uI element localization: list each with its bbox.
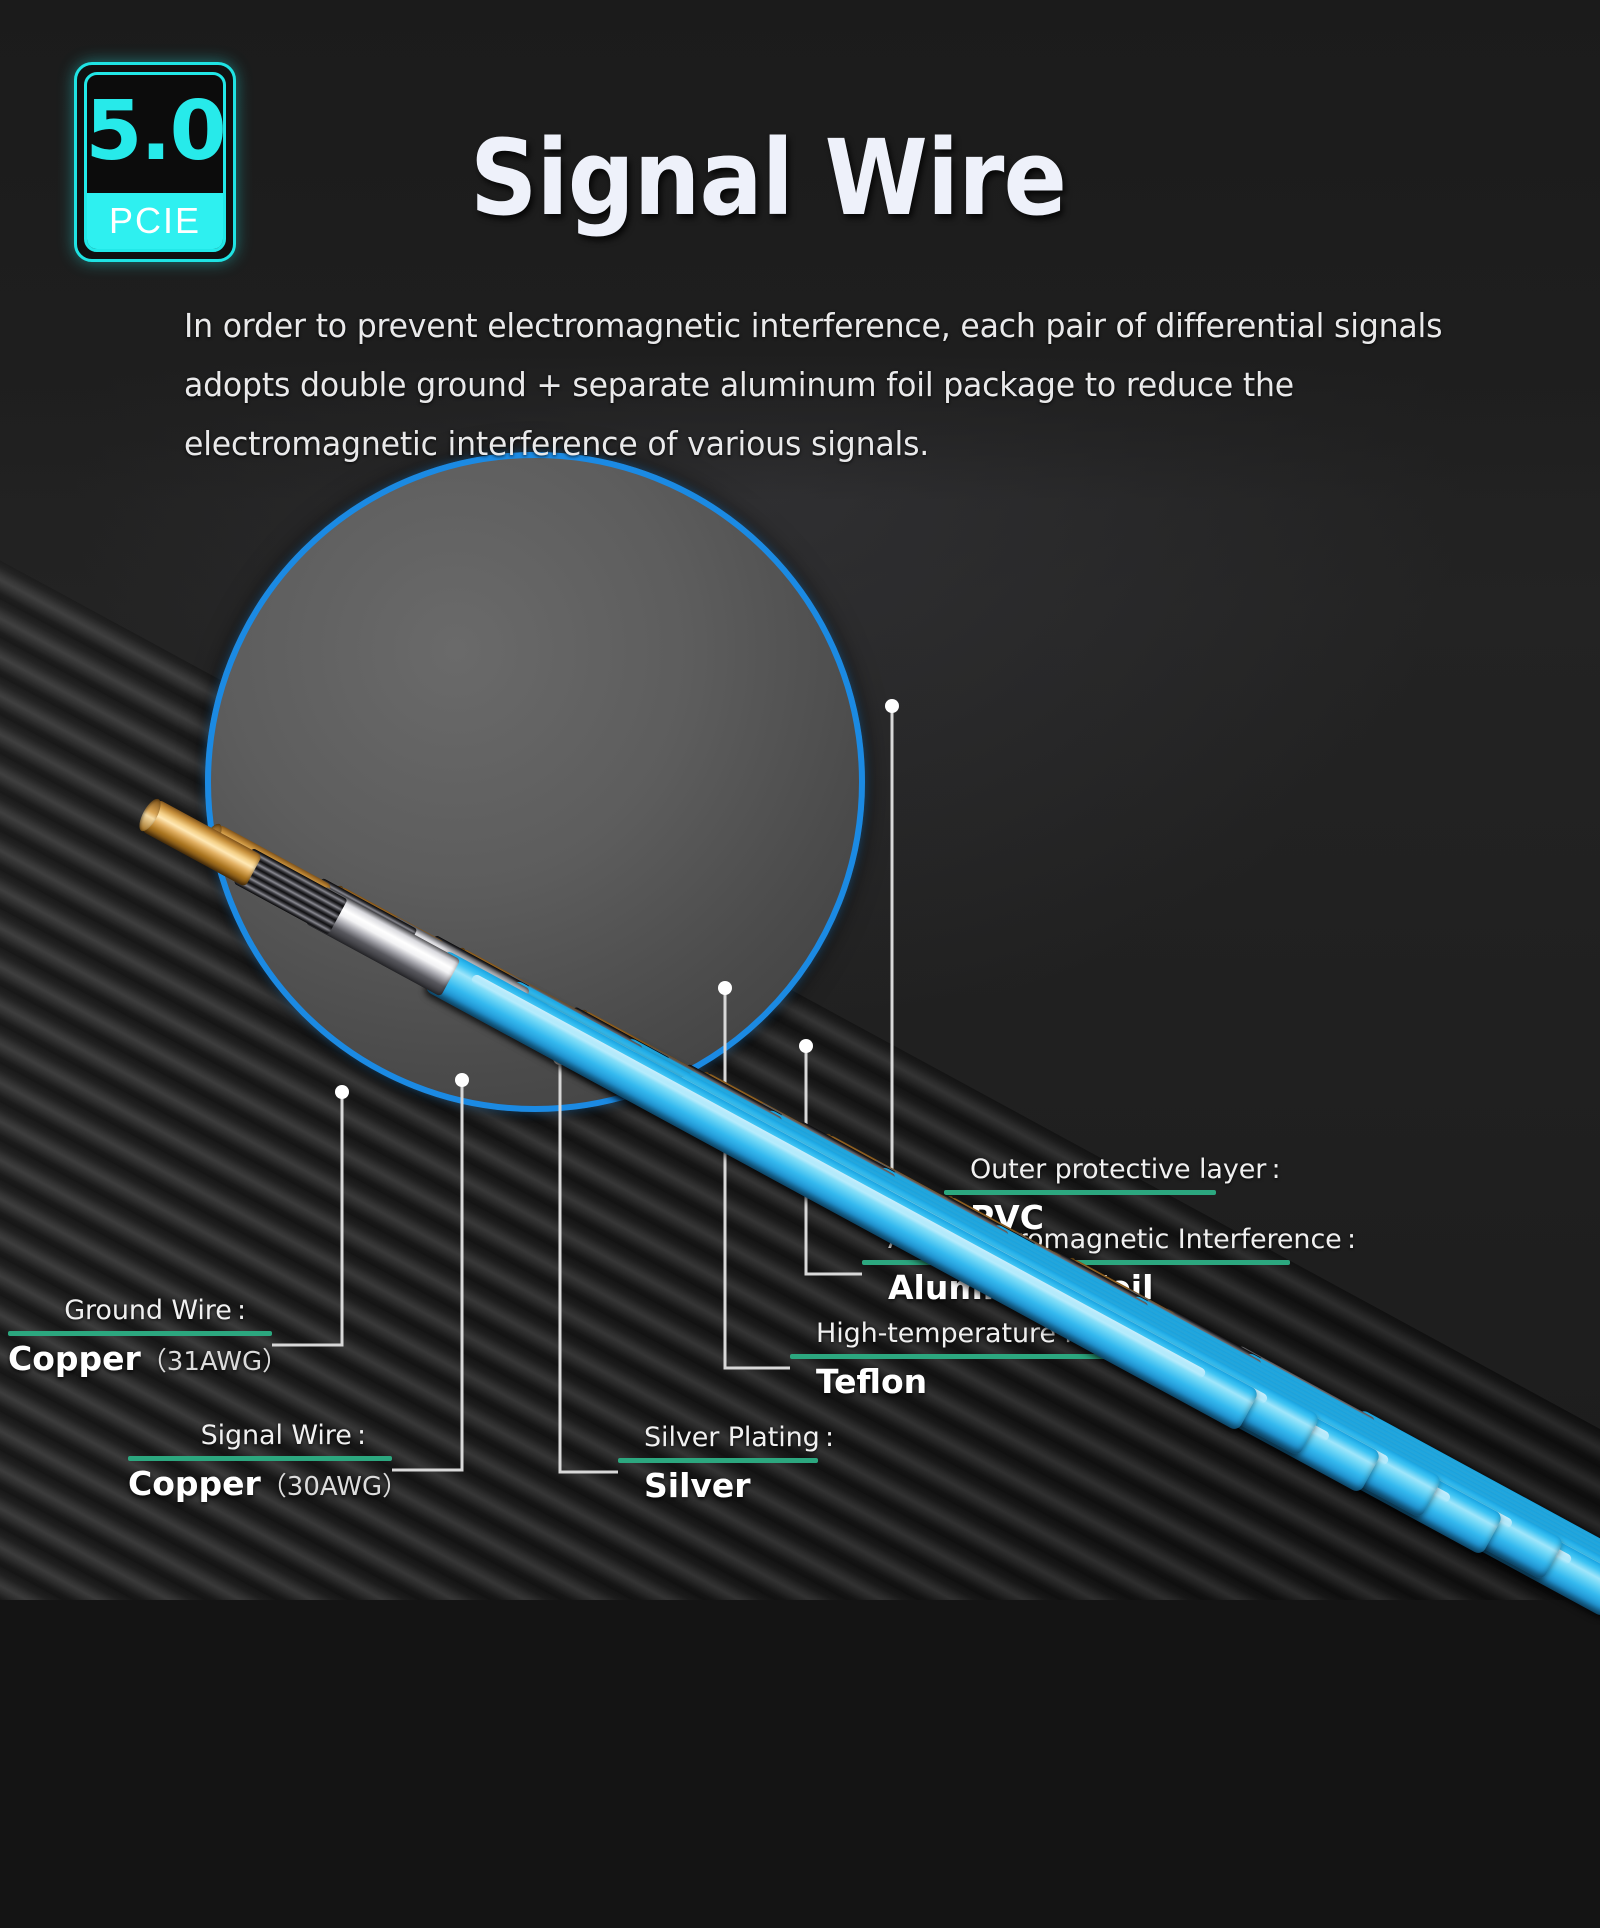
description-paragraph: In order to prevent electromagnetic inte… xyxy=(184,296,1521,473)
callout-value-text: Silver xyxy=(644,1466,751,1505)
pcie-version-number: 5.0 xyxy=(87,75,223,193)
callout-rule xyxy=(790,1354,1168,1359)
callout-caption: Ground Wire : xyxy=(8,1295,272,1326)
callout-value: PVC xyxy=(944,1198,1216,1237)
callout-value-note: （30AWG） xyxy=(261,1472,408,1502)
magnifier-lens xyxy=(205,452,865,1112)
callout-rule xyxy=(128,1456,392,1461)
callout-caption: Signal Wire : xyxy=(128,1420,392,1451)
callout-signal-wire: Signal Wire : Copper（30AWG） xyxy=(128,1420,392,1503)
callout-caption: Outer protective layer : xyxy=(944,1154,1216,1185)
pcie-version-badge: 5.0 PCIE xyxy=(74,62,236,262)
callout-value-text: PVC xyxy=(970,1198,1044,1237)
callout-value-text: Copper xyxy=(128,1464,261,1503)
callout-ground-wire: Ground Wire : Copper（31AWG） xyxy=(8,1295,272,1378)
callout-value-text: Aluminum Foil xyxy=(888,1268,1153,1307)
callout-silver-plating: Silver Plating : Silver xyxy=(618,1422,818,1505)
callout-value-note: （31AWG） xyxy=(141,1347,288,1377)
pcie-standard-label: PCIE xyxy=(87,193,223,249)
callout-caption: Silver Plating : xyxy=(618,1422,818,1453)
callout-value: Teflon xyxy=(790,1362,1168,1401)
callout-value: Copper（30AWG） xyxy=(128,1464,392,1503)
callout-rule xyxy=(618,1458,818,1463)
page-title: Signal Wire xyxy=(470,126,1066,230)
pcie-badge-inner: 5.0 PCIE xyxy=(84,72,226,252)
cable-strand xyxy=(205,795,865,1112)
callout-outer-protective-layer: Outer protective layer : PVC xyxy=(944,1154,1216,1237)
callout-value: Copper（31AWG） xyxy=(8,1339,272,1378)
magnified-cable-bundle xyxy=(205,452,865,1112)
callout-caption: High-temperature insulation : xyxy=(790,1318,1168,1349)
callout-rule xyxy=(944,1190,1216,1195)
callout-value-text: Copper xyxy=(8,1339,141,1378)
callout-rule xyxy=(862,1260,1290,1265)
callout-high-temp-insulation: High-temperature insulation : Teflon xyxy=(790,1318,1168,1401)
magnifier-disc xyxy=(205,452,865,1112)
wire-insulation xyxy=(424,949,865,1112)
callout-value: Aluminum Foil xyxy=(862,1268,1290,1307)
cable-strand xyxy=(205,820,865,1112)
callout-value-text: Teflon xyxy=(816,1362,927,1401)
callout-value: Silver xyxy=(618,1466,818,1505)
callout-rule xyxy=(8,1331,272,1336)
